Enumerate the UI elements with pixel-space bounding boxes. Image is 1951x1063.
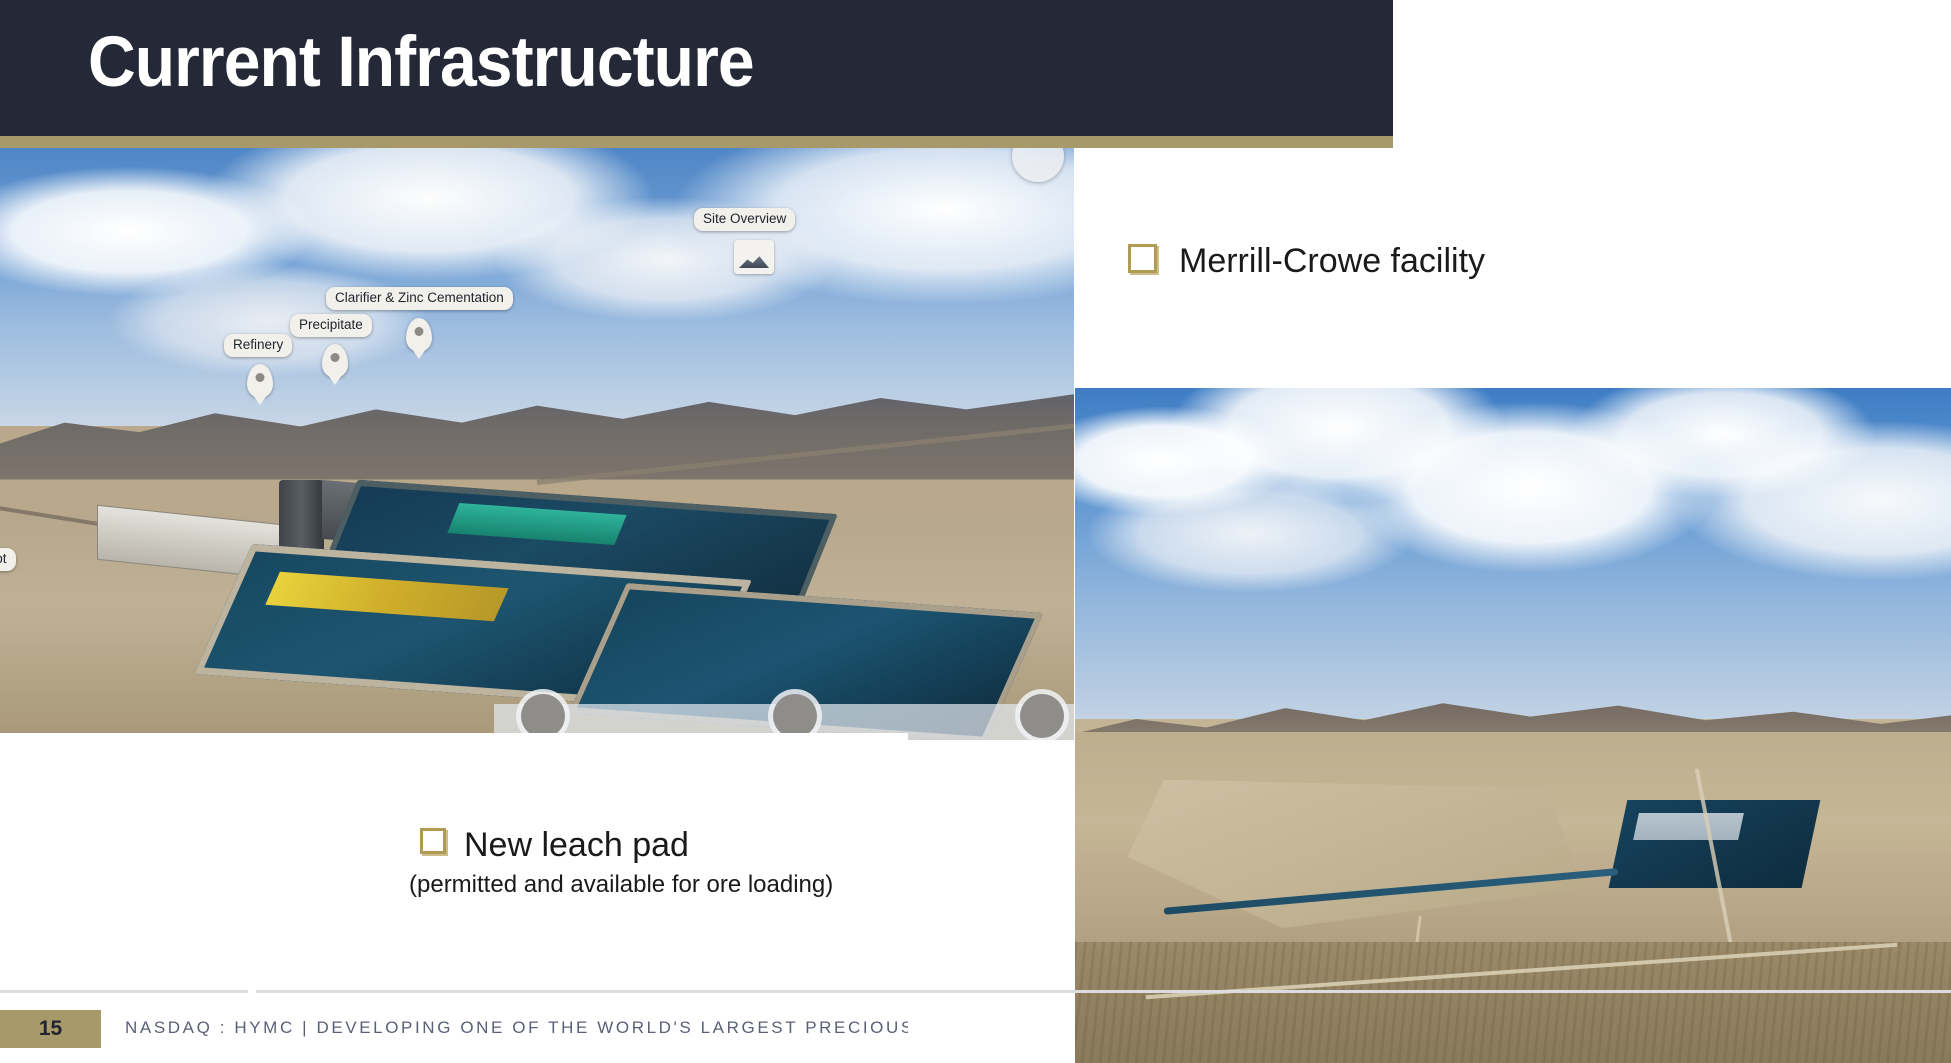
tour-next-button[interactable] bbox=[1020, 694, 1064, 738]
hotspot-label-precipitate[interactable]: Precipitate bbox=[290, 314, 372, 337]
hotspot-pin-clarifier[interactable] bbox=[406, 318, 432, 352]
title-bar-accent bbox=[0, 136, 1393, 148]
page-number-badge: 15 bbox=[0, 1010, 101, 1048]
storage-tank bbox=[279, 480, 324, 557]
footer-divider-left bbox=[0, 990, 248, 993]
bullet-leach-pad-main: New leach pad bbox=[420, 828, 833, 864]
hotspot-label-refinery[interactable]: Refinery bbox=[224, 334, 292, 357]
page-number: 15 bbox=[39, 1017, 62, 1041]
foreground-brush bbox=[1075, 942, 1951, 1063]
merrill-crowe-callout-panel: Merrill-Crowe facility bbox=[1075, 148, 1951, 388]
bullet-label: New leach pad bbox=[464, 828, 689, 864]
leach-pad-callout-panel: New leach pad (permitted and available f… bbox=[0, 733, 908, 973]
sky-region bbox=[1075, 388, 1951, 719]
hotspot-label-site-overview[interactable]: Site Overview bbox=[694, 208, 795, 231]
tour-prev-button[interactable] bbox=[521, 694, 565, 738]
bullet-merrill-crowe: Merrill-Crowe facility bbox=[1128, 244, 1485, 280]
hotspot-pin-refinery[interactable] bbox=[247, 364, 273, 398]
hotspot-label-clarifier[interactable]: Clarifier & Zinc Cementation bbox=[326, 287, 513, 310]
pond-liner-highlight bbox=[1633, 813, 1744, 840]
bullet-subtext: (permitted and available for ore loading… bbox=[409, 871, 833, 899]
bullet-label: Merrill-Crowe facility bbox=[1179, 244, 1485, 280]
screenshot-button-label[interactable]: shot bbox=[0, 548, 16, 571]
footer-tagline: NASDAQ : HYMC | DEVELOPING ONE OF THE WO… bbox=[125, 1018, 908, 1044]
footer-divider-right bbox=[256, 990, 1951, 993]
page-title: Current Infrastructure bbox=[88, 22, 1260, 103]
sky-region bbox=[0, 148, 1074, 426]
hotspot-thumbnail-site-overview[interactable] bbox=[734, 240, 774, 274]
bullet-square-icon bbox=[420, 828, 446, 854]
leach-pad-photo bbox=[1075, 388, 1951, 1063]
slide-canvas: Site Overview Clarifier & Zinc Cementati… bbox=[0, 0, 1951, 1063]
merrill-crowe-photo: Site Overview Clarifier & Zinc Cementati… bbox=[0, 148, 1074, 740]
bullet-leach-pad: New leach pad (permitted and available f… bbox=[420, 828, 833, 899]
tour-play-button[interactable] bbox=[773, 694, 817, 738]
hotspot-pin-precipitate[interactable] bbox=[322, 344, 348, 378]
bullet-square-icon bbox=[1128, 244, 1157, 273]
